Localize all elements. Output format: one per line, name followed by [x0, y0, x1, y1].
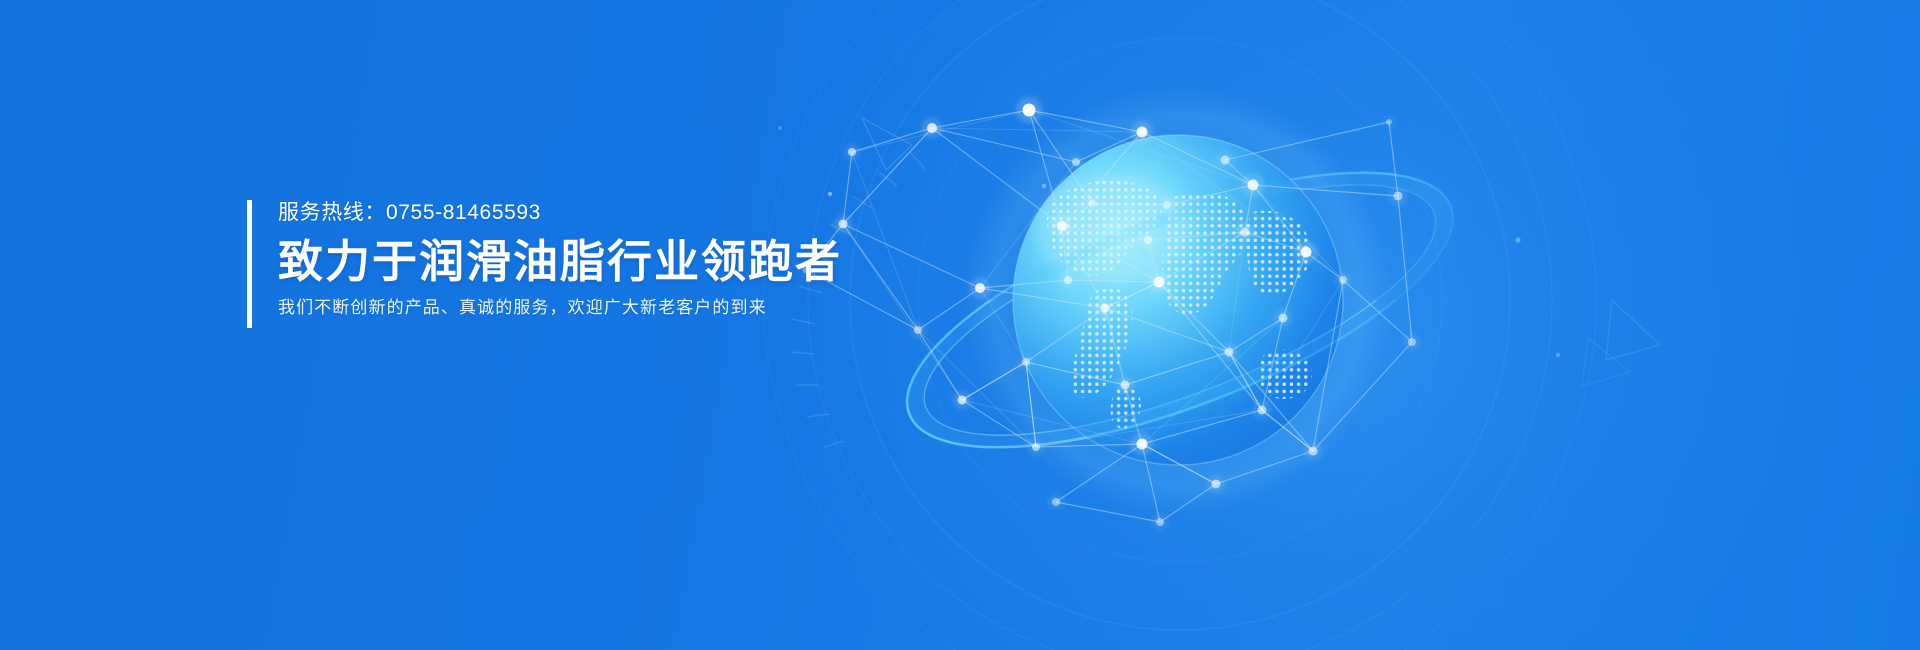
- network-node-halo: [1220, 343, 1239, 362]
- network-node: [1156, 518, 1164, 526]
- network-node: [1258, 406, 1267, 415]
- network-node: [1154, 277, 1165, 288]
- orbit-ring-body: [875, 116, 1485, 503]
- network-node-halo: [1085, 196, 1100, 211]
- network-node-halo: [1241, 173, 1264, 196]
- network-node: [1137, 439, 1148, 450]
- network-node: [975, 283, 985, 293]
- network-mesh-lines: [806, 110, 1412, 522]
- network-node: [1221, 156, 1230, 165]
- network-node-halo: [910, 322, 927, 339]
- network-node-halo: [1207, 475, 1226, 494]
- network-node-halo: [1116, 376, 1135, 395]
- network-node: [1052, 498, 1060, 506]
- hotline-text: 服务热线：0755-81465593: [278, 200, 842, 226]
- globe-specular: [1034, 172, 1190, 284]
- network-node: [1386, 119, 1392, 125]
- banner-subheadline: 我们不断创新的产品、真诚的服务，欢迎广大新老客户的到来: [278, 296, 842, 320]
- hero-banner: 服务热线：0755-81465593 致力于润滑油脂行业领跑者 我们不断创新的产…: [0, 0, 1920, 650]
- network-node-halo: [1159, 197, 1176, 214]
- network-node-halo: [1304, 442, 1323, 461]
- network-node-halo: [1130, 432, 1153, 455]
- network-node-halo: [1028, 439, 1045, 456]
- network-node: [1032, 443, 1040, 451]
- orbit-ring-back: [875, 116, 1485, 503]
- network-nodes: [799, 96, 1421, 530]
- network-node-halo: [1130, 120, 1153, 143]
- network-node-halo: [1389, 187, 1408, 206]
- network-node: [1072, 158, 1080, 166]
- network-node-halo: [1335, 272, 1352, 289]
- network-node: [927, 123, 937, 133]
- network-node: [1089, 200, 1096, 207]
- network-node: [1394, 192, 1403, 201]
- network-node: [1241, 228, 1250, 237]
- network-node-halo: [1152, 514, 1169, 531]
- network-node-halo: [1068, 154, 1085, 171]
- network-node: [1339, 276, 1347, 284]
- network-node: [1064, 276, 1072, 284]
- banner-copy-block: 服务热线：0755-81465593 致力于润滑油脂行业领跑者 我们不断创新的产…: [247, 200, 842, 328]
- network-node-halo: [953, 391, 972, 410]
- network-node: [1163, 201, 1171, 209]
- globe-sphere: [1013, 135, 1343, 465]
- network-node-halo: [1096, 299, 1115, 318]
- network-node-halo: [970, 278, 991, 299]
- network-node-halo: [922, 118, 943, 139]
- network-node: [1309, 447, 1318, 456]
- network-node-halo: [1048, 494, 1065, 511]
- network-node-halo: [1383, 116, 1396, 129]
- banner-headline: 致力于润滑油脂行业领跑者: [278, 236, 842, 288]
- network-node-halo: [1018, 354, 1035, 371]
- network-node: [1279, 314, 1288, 323]
- globe-halo: [963, 85, 1393, 515]
- network-node: [1225, 348, 1234, 357]
- network-node: [914, 326, 922, 334]
- network-node-halo: [1060, 272, 1077, 289]
- sparkle-dots: [778, 126, 1560, 357]
- orbit-ring-front: [875, 116, 1485, 503]
- network-node: [1212, 480, 1221, 489]
- network-node: [958, 396, 967, 405]
- network-node-halo: [1294, 240, 1317, 263]
- network-node: [848, 148, 856, 156]
- network-mesh-lines-faint: [843, 110, 1343, 447]
- network-node-halo: [1404, 334, 1421, 351]
- network-node: [1408, 338, 1416, 346]
- network-node-halo: [1015, 96, 1042, 123]
- network-node: [1248, 180, 1259, 191]
- network-node: [1137, 127, 1148, 138]
- background-wireframe: [862, 118, 1660, 386]
- network-node: [1022, 358, 1030, 366]
- network-node: [1301, 247, 1312, 258]
- network-node: [1101, 304, 1110, 313]
- network-node: [1023, 104, 1036, 117]
- network-node: [1057, 221, 1067, 231]
- radar-arcs: [764, 0, 1596, 650]
- network-node-halo: [844, 144, 861, 161]
- globe-continents: [1047, 180, 1312, 428]
- network-node: [1144, 236, 1152, 244]
- network-node-halo: [1147, 270, 1170, 293]
- network-node-halo: [1274, 309, 1293, 328]
- network-node: [1121, 381, 1130, 390]
- network-node-halo: [1052, 216, 1073, 237]
- network-node-halo: [1236, 223, 1255, 242]
- globe-rim: [1013, 135, 1343, 465]
- network-node-halo: [1216, 151, 1235, 170]
- network-node-halo: [1253, 401, 1272, 420]
- network-node-halo: [1140, 232, 1157, 249]
